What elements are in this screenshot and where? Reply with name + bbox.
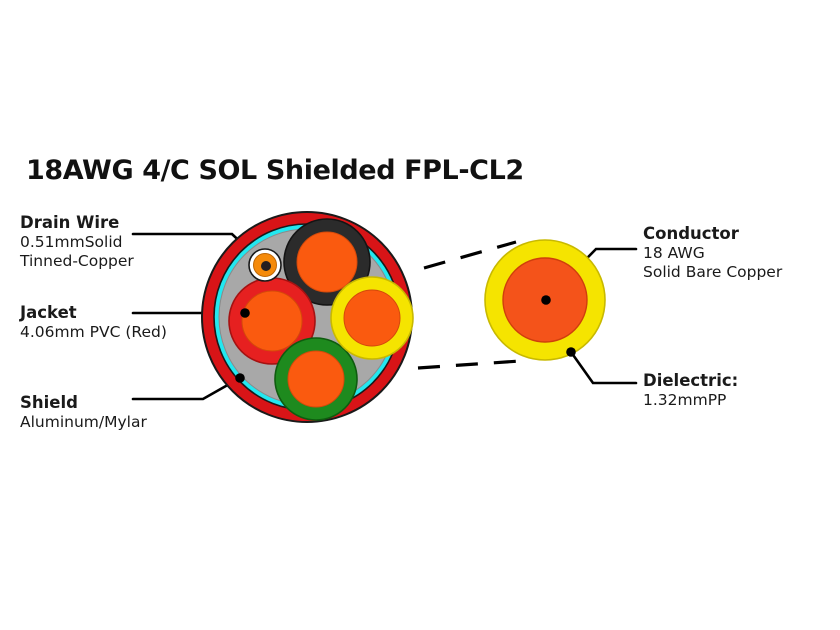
green-conductor <box>275 338 357 420</box>
callout-dielectric: Dielectric: 1.32mmPP <box>643 371 738 410</box>
expansion-line-bottom <box>418 361 520 368</box>
callout-conductor-line2: Solid Bare Copper <box>643 263 782 282</box>
callout-dielectric-line1: 1.32mmPP <box>643 391 738 410</box>
callout-drain-wire-line1: 0.51mmSolid <box>20 233 134 252</box>
black-conductor-core <box>297 232 357 292</box>
callout-shield-title: Shield <box>20 393 147 413</box>
callout-shield-line1: Aluminum/Mylar <box>20 413 147 432</box>
callout-shield: Shield Aluminum/Mylar <box>20 393 147 432</box>
diagram-canvas: 18AWG 4/C SOL Shielded FPL-CL2 <box>0 0 840 630</box>
callout-jacket-title: Jacket <box>20 303 167 323</box>
callout-conductor-line1: 18 AWG <box>643 244 782 263</box>
callout-jacket: Jacket 4.06mm PVC (Red) <box>20 303 167 342</box>
dot-conductor <box>541 295 551 305</box>
main-cable <box>202 212 413 422</box>
leader-dielectric <box>571 352 636 383</box>
dot-dielectric <box>566 347 576 357</box>
green-conductor-core <box>288 351 344 407</box>
red-conductor-core <box>242 291 302 351</box>
drain-wire <box>249 249 281 281</box>
callout-conductor: Conductor 18 AWG Solid Bare Copper <box>643 224 782 282</box>
callout-drain-wire: Drain Wire 0.51mmSolid Tinned-Copper <box>20 213 134 271</box>
callout-dielectric-title: Dielectric: <box>643 371 738 391</box>
drain-wire-core <box>261 261 271 271</box>
dot-shield <box>235 373 245 383</box>
callout-conductor-title: Conductor <box>643 224 782 244</box>
yellow-conductor-core <box>344 290 400 346</box>
callout-drain-wire-title: Drain Wire <box>20 213 134 233</box>
dot-jacket <box>240 308 250 318</box>
callout-drain-wire-line2: Tinned-Copper <box>20 252 134 271</box>
yellow-conductor <box>331 277 413 359</box>
callout-jacket-line1: 4.06mm PVC (Red) <box>20 323 167 342</box>
